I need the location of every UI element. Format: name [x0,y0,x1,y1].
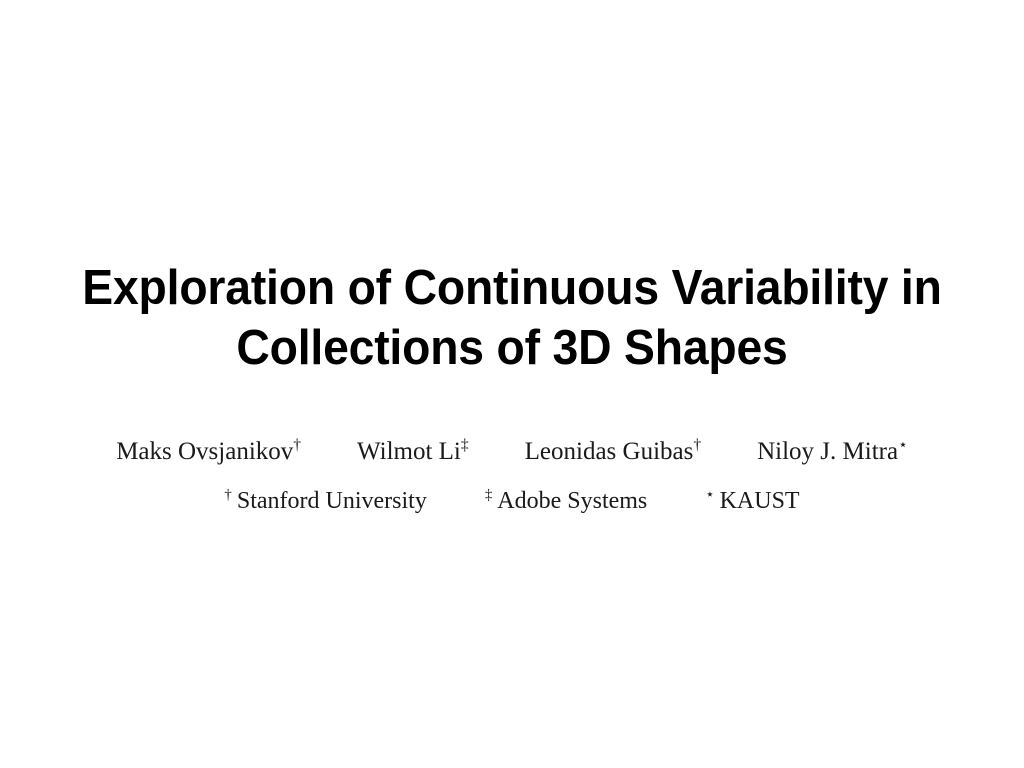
affiliation-entry: †Stanford University [224,485,426,517]
affiliation-entry: ‡Adobe Systems [485,485,647,517]
affiliation-marker: ⋆ [705,487,714,503]
author-list: Maks Ovsjanikov† Wilmot Li‡ Leonidas Gui… [0,436,1024,468]
author-entry: Wilmot Li‡ [357,436,469,468]
affiliation-marker: † [224,487,231,503]
author-affiliation-marker: ⋆ [898,437,908,454]
affiliation-entry: ⋆KAUST [705,485,799,517]
title-slide: Exploration of Continuous Variability in… [0,0,1024,768]
affiliation-marker: ‡ [485,487,492,503]
affiliation-name: Stanford University [237,488,427,514]
author-name: Wilmot Li [357,438,461,465]
author-entry: Leonidas Guibas† [525,436,701,468]
author-name: Leonidas Guibas [525,438,694,465]
slide-title: Exploration of Continuous Variability in… [0,258,1024,378]
title-line-2: Collections of 3D Shapes [28,318,996,378]
author-name: Maks Ovsjanikov [116,438,293,465]
affiliation-name: KAUST [720,488,800,514]
author-entry: Maks Ovsjanikov† [116,436,301,468]
author-name: Niloy J. Mitra [757,438,898,465]
author-entry: Niloy J. Mitra⋆ [757,436,908,468]
author-affiliation-marker: † [293,437,301,454]
affiliation-list: †Stanford University ‡Adobe Systems ⋆KAU… [0,485,1024,517]
author-affiliation-marker: † [693,437,701,454]
affiliation-name: Adobe Systems [497,488,647,514]
title-line-1: Exploration of Continuous Variability in [28,258,996,318]
author-affiliation-marker: ‡ [461,437,469,454]
